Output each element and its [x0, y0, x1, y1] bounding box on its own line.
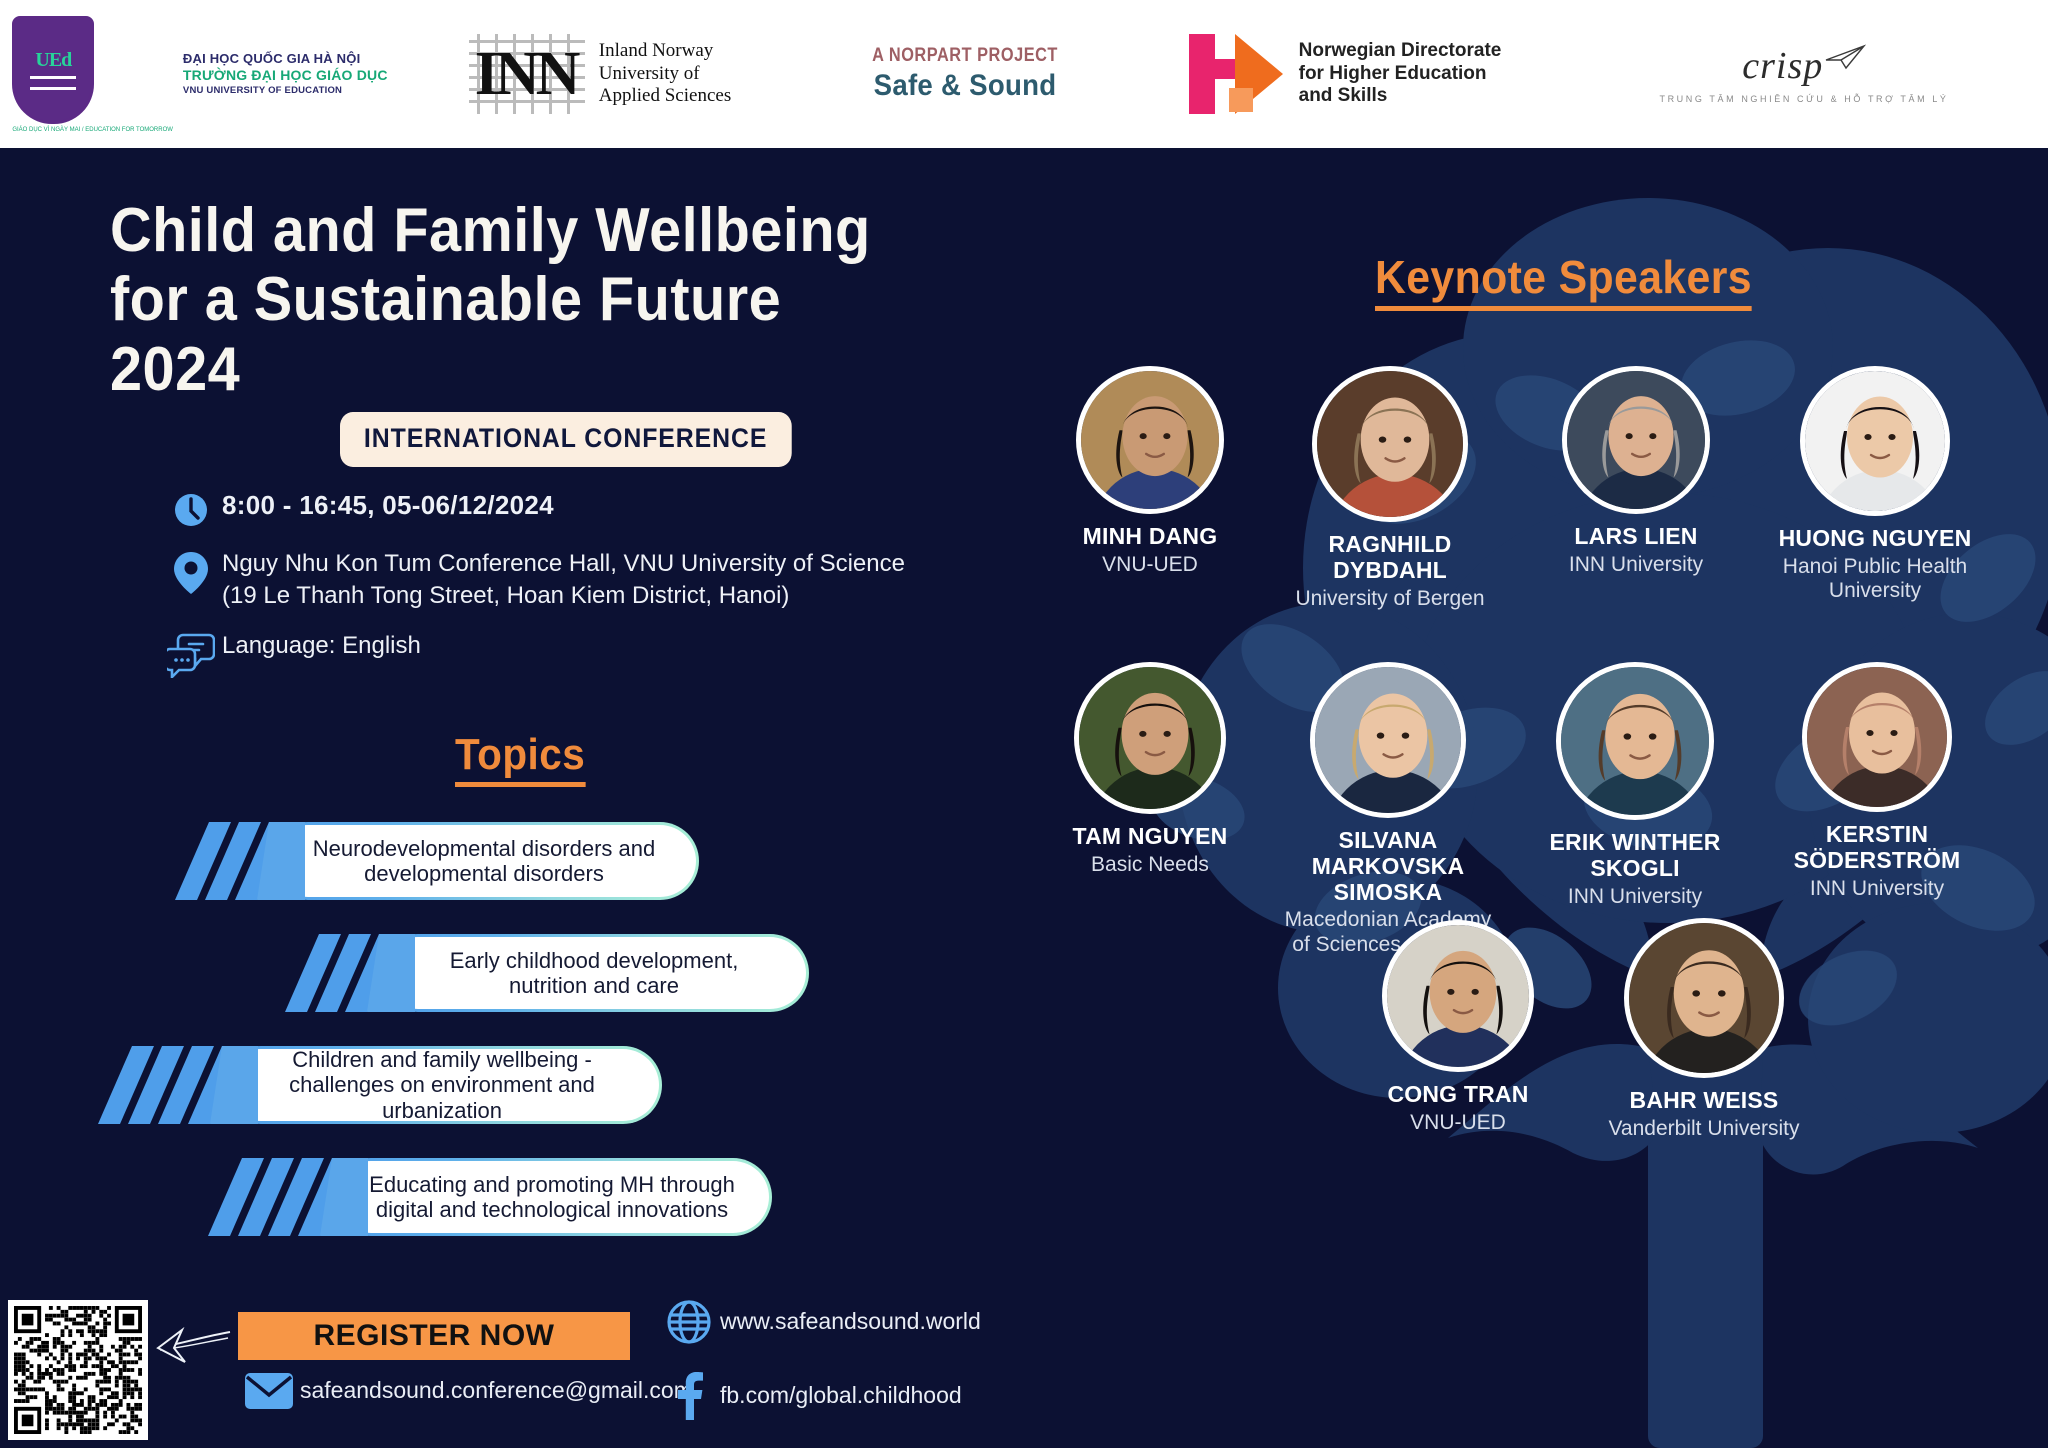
crisp-logo: crisp TRUNG TÂM NGHIÊN CỨU & HỖ TRỢ TÂM …: [1560, 0, 2048, 148]
speaker-card: LARS LIENINN University: [1534, 366, 1738, 577]
inn-monogram: INN: [475, 40, 577, 108]
conference-poster: UEd GIÁO DỤC VÌ NGÀY MAI / EDUCATION FOR…: [0, 0, 2048, 1448]
speaker-affiliation: INN University: [1774, 877, 1980, 901]
topic-pill: Neurodevelopmental disorders and develop…: [269, 822, 699, 900]
speaker-name: CONG TRAN: [1354, 1082, 1562, 1108]
poster-title: Child and Family Wellbeing for a Sustain…: [110, 196, 882, 404]
speaker-card: RAGNHILD DYBDAHLUniversity of Bergen: [1284, 366, 1496, 611]
speaker-portrait: [1074, 662, 1226, 814]
topic-pill: Early childhood development, nutrition a…: [379, 934, 809, 1012]
speaker-name: ERIK WINTHER SKOGLI: [1528, 830, 1742, 882]
contact-facebook[interactable]: fb.com/global.childhood: [658, 1372, 962, 1420]
speaker-name: HUONG NGUYEN: [1772, 526, 1978, 552]
vnu-ued-logo: UEd GIÁO DỤC VÌ NGÀY MAI / EDUCATION FOR…: [0, 0, 400, 148]
registration-qr-code[interactable]: [8, 1300, 148, 1440]
speaker-name: KERSTIN SÖDERSTRÖM: [1774, 822, 1980, 874]
envelope-icon: [238, 1372, 300, 1410]
inn-logo: INN Inland Norway University of Applied …: [400, 0, 800, 148]
speaker-affiliation: Basic Needs: [1046, 853, 1254, 877]
safe-and-sound-wordmark: Safe & Sound: [866, 69, 1065, 103]
hk-mark-icon: [1189, 34, 1285, 114]
speaker-portrait: [1310, 662, 1466, 818]
speaker-card: SILVANA MARKOVSKA SIMOSKAMacedonian Acad…: [1282, 662, 1494, 957]
conference-type-badge: INTERNATIONAL CONFERENCE: [340, 412, 791, 467]
contact-email-text: safeandsound.conference@gmail.com: [300, 1377, 693, 1405]
event-info-list: 8:00 - 16:45, 05-06/12/2024 Nguy Nhu Kon…: [160, 488, 920, 696]
ued-line-1: ĐẠI HỌC QUỐC GIA HÀ NỘI: [183, 51, 388, 67]
contact-website[interactable]: www.safeandsound.world: [658, 1300, 981, 1344]
topic-pill: Children and family wellbeing - challeng…: [222, 1046, 662, 1124]
crisp-tagline: TRUNG TÂM NGHIÊN CỨU & HỖ TRỢ TÂM LÝ: [1659, 94, 1948, 104]
speaker-card: MINH DANGVNU-UED: [1048, 366, 1252, 577]
speaker-portrait: [1562, 366, 1710, 514]
speaker-name: BAHR WEISS: [1596, 1088, 1812, 1114]
info-row-location: Nguy Nhu Kon Tum Conference Hall, VNU Un…: [160, 548, 920, 612]
speaker-card: KERSTIN SÖDERSTRÖMINN University: [1774, 662, 1980, 901]
speaker-affiliation: INN University: [1528, 885, 1742, 909]
globe-icon: [658, 1300, 720, 1344]
inn-line-3: Applied Sciences: [599, 85, 731, 107]
facebook-icon: [658, 1372, 720, 1420]
speaker-name: TAM NGUYEN: [1046, 824, 1254, 850]
inn-line-1: Inland Norway: [599, 40, 731, 62]
ued-line-3: VNU UNIVERSITY OF EDUCATION: [183, 85, 388, 97]
speaker-card: ERIK WINTHER SKOGLIINN University: [1528, 662, 1742, 909]
speaker-portrait: [1800, 366, 1950, 516]
paper-plane-icon: [1824, 44, 1866, 75]
speaker-card: TAM NGUYENBasic Needs: [1046, 662, 1254, 877]
topic-label: Children and family wellbeing - challeng…: [225, 1049, 659, 1121]
topics-heading: Topics: [455, 730, 585, 787]
speaker-name: RAGNHILD DYBDAHL: [1284, 532, 1496, 584]
contact-email[interactable]: safeandsound.conference@gmail.com: [238, 1372, 693, 1410]
speaker-affiliation: VNU-UED: [1354, 1111, 1562, 1135]
info-row-language: Language: English: [160, 630, 920, 678]
event-datetime: 8:00 - 16:45, 05-06/12/2024: [222, 488, 554, 523]
topic-label: Early childhood development, nutrition a…: [382, 937, 806, 1009]
contact-website-text: www.safeandsound.world: [720, 1308, 981, 1336]
hk-line-2: for Higher Education: [1299, 63, 1502, 86]
event-location: Nguy Nhu Kon Tum Conference Hall, VNU Un…: [222, 548, 920, 612]
location-pin-icon: [160, 548, 222, 596]
arrow-to-qr-icon: [152, 1320, 232, 1380]
speaker-name: MINH DANG: [1048, 524, 1252, 550]
topic-stripes-decoration: [98, 1046, 252, 1124]
speaker-affiliation: University of Bergen: [1284, 587, 1496, 611]
keynote-speakers-heading: Keynote Speakers: [1375, 250, 1752, 311]
inn-line-2: University of: [599, 63, 731, 85]
info-row-datetime: 8:00 - 16:45, 05-06/12/2024: [160, 488, 920, 530]
hk-line-3: and Skills: [1299, 85, 1502, 108]
norpart-logo: A NORPART PROJECT Safe & Sound: [800, 0, 1130, 148]
speaker-portrait: [1312, 366, 1468, 522]
speaker-portrait: [1624, 918, 1784, 1078]
speaker-affiliation: Hanoi Public Health University: [1772, 555, 1978, 604]
topic-pill: Educating and promoting MH through digit…: [332, 1158, 772, 1236]
topic-stripes-decoration: [285, 934, 409, 1012]
speaker-portrait: [1382, 920, 1534, 1072]
hk-line-1: Norwegian Directorate: [1299, 40, 1502, 63]
speaker-portrait: [1556, 662, 1714, 820]
topic-stripes-decoration: [175, 822, 299, 900]
ued-book-icon: [30, 76, 76, 90]
chat-bubbles-icon: [160, 630, 222, 678]
speaker-affiliation: VNU-UED: [1048, 553, 1252, 577]
topic-stripes-decoration: [208, 1158, 362, 1236]
topic-item: Early childhood development, nutrition a…: [285, 934, 809, 1012]
ued-footnote: GIÁO DỤC VÌ NGÀY MAI / EDUCATION FOR TOM…: [12, 127, 173, 133]
topic-label: Educating and promoting MH through digit…: [335, 1161, 769, 1233]
speaker-portrait: [1076, 366, 1224, 514]
event-language: Language: English: [222, 630, 421, 662]
ued-shield-icon: UEd: [12, 16, 94, 124]
speaker-portrait: [1802, 662, 1952, 812]
clock-icon: [160, 488, 222, 530]
sponsor-logo-strip: UEd GIÁO DỤC VÌ NGÀY MAI / EDUCATION FOR…: [0, 0, 2048, 148]
register-now-button[interactable]: REGISTER NOW: [238, 1312, 630, 1360]
ued-line-2: TRƯỜNG ĐẠI HỌC GIÁO DỤC: [183, 67, 388, 85]
speaker-card: BAHR WEISSVanderbilt University: [1596, 918, 1812, 1141]
topic-label: Neurodevelopmental disorders and develop…: [272, 825, 696, 897]
crisp-wordmark: crisp: [1742, 45, 1823, 87]
topic-item: Educating and promoting MH through digit…: [208, 1158, 772, 1236]
hk-logo: Norwegian Directorate for Higher Educati…: [1130, 0, 1560, 148]
speaker-card: CONG TRANVNU-UED: [1354, 920, 1562, 1135]
speaker-affiliation: INN University: [1534, 553, 1738, 577]
contact-facebook-text: fb.com/global.childhood: [720, 1382, 962, 1410]
speaker-name: LARS LIEN: [1534, 524, 1738, 550]
norpart-tagline: A NORPART PROJECT: [872, 45, 1058, 67]
ued-monogram: UEd: [35, 49, 71, 72]
topic-item: Children and family wellbeing - challeng…: [98, 1046, 662, 1124]
inn-mark-icon: INN: [469, 34, 585, 114]
speaker-name: SILVANA MARKOVSKA SIMOSKA: [1282, 828, 1494, 905]
topic-item: Neurodevelopmental disorders and develop…: [175, 822, 699, 900]
speaker-card: HUONG NGUYENHanoi Public Health Universi…: [1772, 366, 1978, 603]
speaker-affiliation: Vanderbilt University: [1596, 1117, 1812, 1141]
